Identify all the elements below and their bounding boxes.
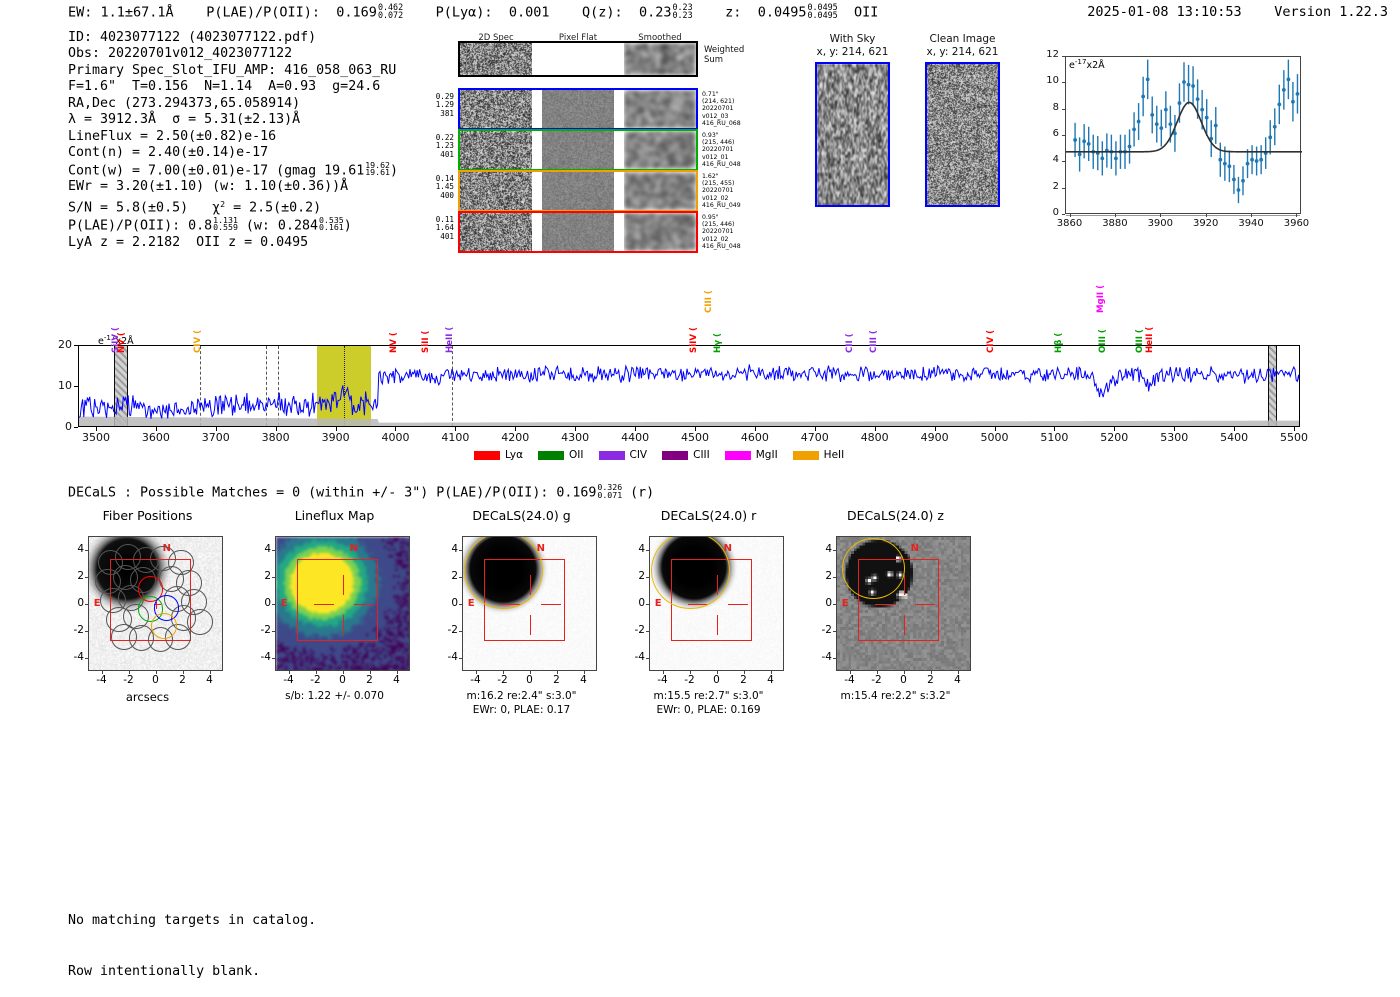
- spectrum-xtick: 4000: [369, 431, 421, 444]
- panel-ytick-mark: [833, 550, 836, 551]
- panel-ytick: 0: [812, 597, 832, 609]
- spectrum-legend-item-ciii: CIII: [662, 449, 710, 461]
- line-fit-ytick-mark: [1062, 161, 1065, 162]
- footer-line-2: Row intentionally blank.: [68, 963, 316, 980]
- panel-ytick-mark: [272, 577, 275, 578]
- panel-ytick-mark: [833, 631, 836, 632]
- spectrum-line-label-mgii-13: MgII (: [1096, 285, 1106, 313]
- cutout-cell: [460, 172, 532, 210]
- panel-ytick-mark: [85, 631, 88, 632]
- line-fit-plot: e-17x2Å024681012386038803900392039403960: [1035, 48, 1305, 238]
- panel-image-1: NE: [88, 536, 223, 671]
- line-fit-axes: [1065, 56, 1301, 214]
- panel-xtick: 0: [329, 674, 357, 686]
- panel-xtick-mark: [503, 671, 504, 674]
- sky-image-panels: With Skyx, y: 214, 621Clean Imagex, y: 2…: [815, 33, 1015, 253]
- panel-xtick-mark: [663, 671, 664, 674]
- info-seeing: F=1.6" T=0.156 N=1.14 A=0.93 g=24.6: [68, 79, 398, 95]
- spectrum-xtick: 5400: [1208, 431, 1260, 444]
- panel-ytick: 4: [812, 543, 832, 555]
- spectrum-xtick: 3800: [250, 431, 302, 444]
- spectrum-legend-label: MgII: [756, 449, 778, 461]
- cutout-row-left-values: 0.221.23401: [425, 134, 454, 159]
- spectrum-xtick-mark: [455, 427, 456, 431]
- panel-crosshair-right: [541, 604, 561, 605]
- spectrum-xtick-mark: [815, 427, 816, 431]
- line-fit-xtick-mark: [1206, 214, 1207, 217]
- spectrum-line-label-nv-1: NV (: [117, 332, 127, 353]
- cutout-cell: [624, 172, 696, 210]
- panel-xtick-mark: [690, 671, 691, 674]
- panel-xtick-mark: [904, 671, 905, 674]
- panel-ytick: -2: [438, 624, 458, 636]
- spectrum-ytick-mark: [74, 427, 78, 428]
- panel-xtick: -4: [462, 674, 490, 686]
- line-fit-xtick: 3940: [1229, 218, 1273, 229]
- line-fit-xtick: 3960: [1274, 218, 1318, 229]
- panel-ytick: 4: [438, 543, 458, 555]
- panel-xtick-mark: [289, 671, 290, 674]
- spectrum-legend-label: CIII: [693, 449, 710, 461]
- spectrum-legend-swatch: [662, 451, 688, 460]
- spectrum-xtick-mark: [156, 427, 157, 431]
- panel-ytick-mark: [272, 550, 275, 551]
- line-fit-ytick: 0: [1035, 207, 1059, 218]
- spectrum-legend-label: OII: [569, 449, 583, 461]
- spectrum-xtick-mark: [336, 427, 337, 431]
- info-plae: P(LAE)/P(OII): 0.81.1310.559 (w: 0.2840.…: [68, 217, 398, 235]
- panel-crosshair-right: [354, 604, 374, 605]
- header-plae-label: P(LAE)/P(OII):: [206, 4, 320, 20]
- panel-ytick-mark: [272, 631, 275, 632]
- panel-xtick-mark: [850, 671, 851, 674]
- spectrum-line-label-oiii-15: OIII (: [1135, 329, 1145, 353]
- spectrum-line-label-heii-5: HeII (: [445, 327, 455, 353]
- info-lineflux: LineFlux = 2.50(±0.82)e-16: [68, 129, 398, 145]
- footer-line-1: No matching targets in catalog.: [68, 912, 316, 929]
- spectrum-legend-swatch: [793, 451, 819, 460]
- panel-compass-n: N: [911, 543, 919, 554]
- weighted-sum-label: Weighted Sum: [704, 45, 744, 65]
- panel-ytick: -4: [251, 651, 271, 663]
- spectrum-legend: LyαOIICIVCIIIMgIIHeII: [474, 449, 844, 461]
- header-plae-value: 0.169: [336, 4, 377, 20]
- spectrum-xtick: 5500: [1268, 431, 1320, 444]
- line-fit-ytick-mark: [1062, 56, 1065, 57]
- panel-xtick-mark: [316, 671, 317, 674]
- spectrum-xtick: 4800: [849, 431, 901, 444]
- line-fit-ytick: 12: [1035, 49, 1059, 60]
- spectrum-xtick-mark: [635, 427, 636, 431]
- panel-ytick-mark: [85, 550, 88, 551]
- cutout-cell: [542, 172, 614, 210]
- panel-compass-e: E: [468, 598, 475, 609]
- panel-xtick: 2: [169, 674, 197, 686]
- panel-caption-2: EWr: 0, PLAE: 0.169: [613, 704, 804, 716]
- line-fit-xtick: 3860: [1048, 218, 1092, 229]
- panel-ytick-mark: [646, 604, 649, 605]
- sky-panel-image-1: [815, 62, 890, 207]
- cutout-cell: [460, 90, 532, 128]
- panel-ytick-mark: [646, 658, 649, 659]
- panel-compass-e: E: [281, 598, 288, 609]
- spectrum-xtick-mark: [1054, 427, 1055, 431]
- panel-ytick-mark: [833, 577, 836, 578]
- info-sn: S/N = 5.8(±0.5) χ2 = 2.5(±0.2): [68, 196, 398, 217]
- spectrum-line-label-siiv-6: SiIV (: [689, 327, 699, 353]
- info-ewr: EWr = 3.20(±1.10) (w: 1.10(±0.36))Å: [68, 179, 398, 195]
- line-fit-series: [1066, 57, 1302, 215]
- panel-ytick-mark: [272, 604, 275, 605]
- panel-ytick: 2: [64, 570, 84, 582]
- panel-image-3: NE: [462, 536, 597, 671]
- panel-ytick-mark: [459, 550, 462, 551]
- header-qz-label: Q(z):: [582, 4, 623, 20]
- panel-xtick-mark: [370, 671, 371, 674]
- cutout-cell: [460, 213, 532, 251]
- panel-ytick-mark: [833, 658, 836, 659]
- panel-ytick: 0: [251, 597, 271, 609]
- panel-xtick-mark: [584, 671, 585, 674]
- spectrum-line-label-nv-3: NV (: [389, 332, 399, 353]
- line-fit-ytick-mark: [1062, 188, 1065, 189]
- line-fit-ytick: 2: [1035, 181, 1059, 192]
- panel-title-5: DECaLS(24.0) z: [808, 508, 983, 523]
- panel-title-2: Lineflux Map: [247, 508, 422, 523]
- panel-caption-1: m:15.5 re:2.7" s:3.0": [613, 690, 804, 702]
- panel-ytick-mark: [459, 604, 462, 605]
- spectrum-xtick-mark: [1174, 427, 1175, 431]
- sky-panel-title-1: With Sky: [815, 33, 890, 45]
- panel-xtick-mark: [102, 671, 103, 674]
- spectrum-xtick-mark: [395, 427, 396, 431]
- spectrum-ytick: 20: [44, 338, 72, 351]
- spectrum-legend-swatch: [474, 451, 500, 460]
- panel-ytick: -2: [64, 624, 84, 636]
- panel-image-5: NE: [836, 536, 971, 671]
- panel-ytick-mark: [833, 604, 836, 605]
- info-radec: RA,Dec (273.294373,65.058914): [68, 96, 398, 112]
- cutout-cell: [460, 131, 532, 169]
- panel-xtick: 4: [570, 674, 598, 686]
- panel-aperture-ellipse: [464, 536, 542, 609]
- cutout-strip: 2D SpecPixel FlatSmoothedWeighted Sum0.2…: [425, 33, 765, 258]
- panel-ytick: -2: [251, 624, 271, 636]
- line-fit-xtick: 3880: [1093, 218, 1137, 229]
- spectrum-xtick: 4200: [489, 431, 541, 444]
- decals-header-filter: (r): [630, 485, 654, 500]
- panel-ytick: 2: [438, 570, 458, 582]
- panel-crosshair-right: [915, 604, 935, 605]
- spectrum-xtick: 3500: [70, 431, 122, 444]
- panel-image-2: NE: [275, 536, 410, 671]
- line-fit-xtick-mark: [1251, 214, 1252, 217]
- spectrum-legend-item-civ: CIV: [599, 449, 648, 461]
- line-fit-xtick: 3920: [1184, 218, 1228, 229]
- timestamp: 2025-01-08 13:10:53: [1087, 4, 1241, 20]
- header-z-label: z:: [725, 4, 741, 20]
- spectrum-xtick: 3700: [190, 431, 242, 444]
- panel-xtick-mark: [717, 671, 718, 674]
- panel-xtick: 0: [703, 674, 731, 686]
- info-cont-w: Cont(w) = 7.00(±0.01)e-17 (gmag 19.6119.…: [68, 162, 398, 180]
- panel-fiber-circle-selected: [151, 613, 177, 639]
- spectrum-xtick: 3600: [130, 431, 182, 444]
- panel-xtick: 4: [944, 674, 972, 686]
- spectrum-legend-label: Lyα: [505, 449, 523, 461]
- panel-crosshair-bottom: [717, 615, 718, 635]
- header-plae-range: 0.4620.072: [378, 4, 403, 19]
- line-fit-ytick: 8: [1035, 102, 1059, 113]
- cutout-cell: [624, 213, 696, 251]
- spectrum-xtick-mark: [96, 427, 97, 431]
- sky-panel-title-2: Clean Image: [925, 33, 1000, 45]
- panel-xlabel: arcsecs: [60, 690, 235, 704]
- spectrum-xtick: 5000: [969, 431, 1021, 444]
- panel-ytick: 0: [438, 597, 458, 609]
- panel-title-4: DECaLS(24.0) r: [621, 508, 796, 523]
- panel-xtick: -4: [836, 674, 864, 686]
- cutout-row-left-values: 0.291.29381: [425, 93, 454, 118]
- panel-xtick: -4: [275, 674, 303, 686]
- panel-crosshair-left: [314, 604, 334, 605]
- line-fit-zero-line: [1066, 215, 1300, 216]
- image-panel-row: Fiber PositionsNE-4-4-2-2002244arcsecsLi…: [60, 508, 1020, 723]
- line-fit-ytick: 4: [1035, 154, 1059, 165]
- panel-xtick-mark: [557, 671, 558, 674]
- spectrum-line-label-siii-4: SiII (: [421, 331, 431, 353]
- panel-crosshair-top: [343, 575, 344, 595]
- panel-xtick-mark: [183, 671, 184, 674]
- spectrum-xtick-mark: [755, 427, 756, 431]
- sky-panel-coords-1: x, y: 214, 621: [815, 46, 890, 58]
- panel-xtick-mark: [210, 671, 211, 674]
- panel-xtick: 0: [890, 674, 918, 686]
- panel-xtick: 2: [356, 674, 384, 686]
- spectrum-xtick: 4900: [909, 431, 961, 444]
- line-fit-ytick: 6: [1035, 128, 1059, 139]
- cutout-cell: [542, 131, 614, 169]
- spectrum-line-label-heii-16: HeII (: [1145, 327, 1155, 353]
- spectrum-xtick-mark: [1294, 427, 1295, 431]
- panel-xtick: -4: [88, 674, 116, 686]
- panel-ytick-mark: [646, 577, 649, 578]
- panel-ytick-mark: [646, 550, 649, 551]
- spectrum-xtick-mark: [515, 427, 516, 431]
- spectrum-ytick: 10: [44, 379, 72, 392]
- panel-xtick-mark: [744, 671, 745, 674]
- cutout-row-left-values: 0.141.45400: [425, 175, 454, 200]
- panel-xtick: 0: [516, 674, 544, 686]
- cutout-row-right-meta: 0.95"(215, 446)20220701v012_02416_RU_048: [702, 214, 741, 250]
- panel-xtick-mark: [129, 671, 130, 674]
- panel-crosshair-top: [904, 575, 905, 595]
- spectrum-xtick: 4100: [429, 431, 481, 444]
- panel-ytick: 2: [812, 570, 832, 582]
- cutout-row-left-values: 0.111.64401: [425, 216, 454, 241]
- panel-image-4: NE: [649, 536, 784, 671]
- spectrum-trace: [79, 346, 1300, 427]
- header-z-range: 0.04950.0495: [807, 4, 837, 19]
- panel-xtick: 4: [196, 674, 224, 686]
- panel-fiber-circle: [187, 609, 213, 635]
- line-fit-xtick-mark: [1070, 214, 1071, 217]
- panel-xtick-mark: [771, 671, 772, 674]
- panel-xtick: 2: [917, 674, 945, 686]
- spectrum-line-label-hβ-12: Hβ (: [1054, 333, 1064, 353]
- panel-caption-1: m:15.4 re:2.2" s:3.2": [800, 690, 991, 702]
- panel-ytick: 0: [64, 597, 84, 609]
- spectrum-xtick: 4400: [609, 431, 661, 444]
- sky-panel-image-2: [925, 62, 1000, 207]
- panel-ytick-mark: [459, 631, 462, 632]
- spectrum-legend-item-lyα: Lyα: [474, 449, 523, 461]
- panel-ytick-mark: [85, 658, 88, 659]
- info-cont-n: Cont(n) = 2.40(±0.14)e-17: [68, 145, 398, 161]
- panel-ytick: -4: [438, 651, 458, 663]
- spectrum-xtick: 4300: [549, 431, 601, 444]
- panel-ytick: -2: [625, 624, 645, 636]
- cutout-row-right-meta: 0.93"(215, 446)20220701v012_01416_RU_048: [702, 132, 741, 168]
- spectrum-line-label-hγ-8: Hγ (: [713, 333, 723, 353]
- spectrum-xtick: 5200: [1088, 431, 1140, 444]
- line-fit-xtick: 3900: [1138, 218, 1182, 229]
- spectrum-legend-item-heii: HeII: [793, 449, 845, 461]
- panel-ytick: 2: [625, 570, 645, 582]
- panel-ytick-mark: [459, 577, 462, 578]
- spectrum-xtick-mark: [875, 427, 876, 431]
- spectrum-ytick-mark: [74, 386, 78, 387]
- panel-xtick-mark: [476, 671, 477, 674]
- panel-ytick: -4: [64, 651, 84, 663]
- spectrum-legend-swatch: [599, 451, 625, 460]
- spectrum-xtick: 5300: [1148, 431, 1200, 444]
- line-fit-ytick: 10: [1035, 75, 1059, 86]
- panel-crosshair-right: [728, 604, 748, 605]
- panel-ytick-mark: [272, 658, 275, 659]
- spectrum-line-label-ciii-10: CIII (: [869, 330, 879, 353]
- panel-xtick: 0: [142, 674, 170, 686]
- line-fit-xtick-mark: [1296, 214, 1297, 217]
- panel-xtick-mark: [530, 671, 531, 674]
- spectrum-xtick-mark: [216, 427, 217, 431]
- footer-note: No matching targets in catalog. Row inte…: [68, 878, 316, 997]
- spectrum-line-label-cii-9: CII (: [845, 333, 855, 353]
- header-plya-label: P(Lyα):: [436, 4, 493, 20]
- spectrum-xtick-mark: [695, 427, 696, 431]
- detection-info-block: ID: 4023077122 (4023077122.pdf) Obs: 202…: [68, 30, 398, 251]
- panel-compass-n: N: [350, 543, 358, 554]
- spectrum-legend-label: CIV: [630, 449, 648, 461]
- panel-xtick: -4: [649, 674, 677, 686]
- line-fit-ytick-mark: [1062, 82, 1065, 83]
- panel-xtick: -2: [115, 674, 143, 686]
- cutout-row-right-meta: 0.71"(214, 621)20220701v012_03416_RU_068: [702, 91, 741, 127]
- panel-xtick-mark: [931, 671, 932, 674]
- panel-ytick: 4: [251, 543, 271, 555]
- panel-ytick: -4: [625, 651, 645, 663]
- panel-caption-1: s/b: 1.22 +/- 0.070: [239, 690, 430, 702]
- header-qz-value: 0.23: [639, 4, 672, 20]
- spectrum-legend-item-mgii: MgII: [725, 449, 778, 461]
- panel-xtick-mark: [156, 671, 157, 674]
- panel-red-aperture-box: [297, 559, 378, 641]
- panel-title-3: DECaLS(24.0) g: [434, 508, 609, 523]
- decals-plae-range: 0.3260.071: [597, 484, 622, 499]
- panel-crosshair-left: [875, 604, 895, 605]
- full-spectrum-panel: 0102035003600370038003900400041004200430…: [78, 282, 1300, 442]
- panel-xtick: -2: [863, 674, 891, 686]
- header-timestamp-block: 2025-01-08 13:10:53 Version 1.22.3: [1087, 4, 1388, 20]
- panel-ytick: 0: [625, 597, 645, 609]
- panel-xtick-mark: [343, 671, 344, 674]
- spectrum-axes: [78, 345, 1300, 427]
- spectrum-ytick: 0: [44, 420, 72, 433]
- info-primary-spec: Primary Spec_Slot_IFU_AMP: 416_058_063_R…: [68, 63, 398, 79]
- spectrum-xtick-mark: [1234, 427, 1235, 431]
- version-label: Version 1.22.3: [1274, 4, 1388, 20]
- spectrum-xtick: 4500: [669, 431, 721, 444]
- spectrum-legend-item-oii: OII: [538, 449, 583, 461]
- sky-panel-coords-2: x, y: 214, 621: [925, 46, 1000, 58]
- header-ew: EW: 1.1±67.1Å: [68, 4, 174, 20]
- header-z-value: 0.0495: [758, 4, 807, 20]
- info-lambda: λ = 3912.3Å σ = 5.31(±2.13)Å: [68, 112, 398, 128]
- panel-ytick: 2: [251, 570, 271, 582]
- panel-ytick: 4: [625, 543, 645, 555]
- spectrum-legend-label: HeII: [824, 449, 845, 461]
- line-fit-ytick-mark: [1062, 109, 1065, 110]
- header-z-type: OII: [854, 4, 878, 20]
- spectrum-xtick: 4600: [729, 431, 781, 444]
- panel-compass-e: E: [655, 598, 662, 609]
- spectrum-xtick-mark: [995, 427, 996, 431]
- panel-compass-e: E: [842, 598, 849, 609]
- spectrum-line-label-ciii-7: CIII (: [704, 290, 714, 313]
- panel-crosshair-bottom: [904, 615, 905, 635]
- line-fit-xtick-mark: [1115, 214, 1116, 217]
- panel-xtick: 2: [543, 674, 571, 686]
- weighted-sum-frame: [458, 41, 698, 77]
- panel-title-1: Fiber Positions: [60, 508, 235, 523]
- panel-aperture-ellipse: [842, 538, 905, 599]
- panel-ytick: 4: [64, 543, 84, 555]
- cutout-cell: [624, 131, 696, 169]
- spectrum-legend-swatch: [538, 451, 564, 460]
- line-fit-unit-label: e-17x2Å: [1069, 57, 1105, 71]
- line-fit-xtick-mark: [1160, 214, 1161, 217]
- panel-caption-2: EWr: 0, PLAE: 0.17: [426, 704, 617, 716]
- cutout-cell: [542, 90, 614, 128]
- line-fit-ytick-mark: [1062, 135, 1065, 136]
- cutout-cell: [542, 213, 614, 251]
- decals-header: DECaLS : Possible Matches = 0 (within +/…: [68, 484, 654, 500]
- header-plya-value: 0.001: [509, 4, 550, 20]
- panel-caption-1: m:16.2 re:2.4" s:3.0": [426, 690, 617, 702]
- spectrum-xtick: 4700: [789, 431, 841, 444]
- panel-xtick: -2: [676, 674, 704, 686]
- spectrum-ytick-mark: [74, 345, 78, 346]
- panel-ytick: -2: [812, 624, 832, 636]
- panel-ytick-mark: [459, 658, 462, 659]
- spectrum-line-label-civ-2: CIV (: [193, 330, 203, 353]
- spectrum-xtick-mark: [575, 427, 576, 431]
- spectrum-xtick: 3900: [310, 431, 362, 444]
- info-redshifts: LyA z = 2.2182 OII z = 0.0495: [68, 235, 398, 251]
- spectrum-line-label-civ-11: CIV (: [986, 330, 996, 353]
- cutout-row-right-meta: 1.62"(215, 455)20220701v012_02416_RU_049: [702, 173, 741, 209]
- spectrum-xtick: 5100: [1028, 431, 1080, 444]
